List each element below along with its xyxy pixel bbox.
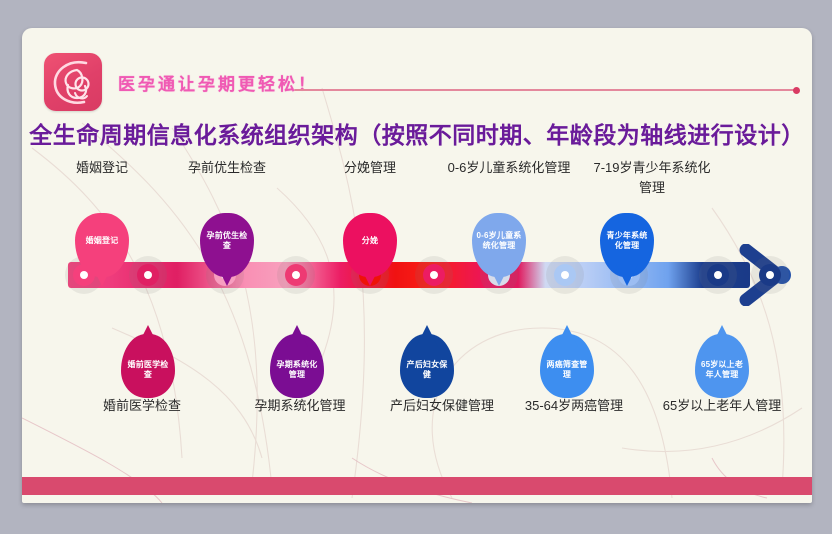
timeline-pin-label: 青少年系统化管理 xyxy=(600,231,654,251)
timeline-pin-label: 产后妇女保健 xyxy=(400,360,454,380)
timeline-pin-label: 婚姻登记 xyxy=(82,236,123,246)
timeline-stage-label-bottom-1: 孕期系统化管理 xyxy=(230,396,370,416)
timeline-pin-label: 两癌筛查管理 xyxy=(540,360,594,380)
timeline-node-dot xyxy=(430,271,438,279)
timeline-stage-label-top-4: 7-19岁青少年系统化管理 xyxy=(591,158,713,197)
timeline-stage-label-top-2: 分娩管理 xyxy=(315,158,425,178)
timeline-pin-down-0[interactable]: 婚前医学检查 xyxy=(121,334,175,398)
timeline-diagram: 婚姻登记孕前优生检查分娩0-6岁儿童系统化管理青少年系统化管理婚前医学检查孕期系… xyxy=(22,28,812,448)
timeline-pin-label: 65岁以上老年人管理 xyxy=(695,360,749,380)
timeline-stage-label-bottom-3: 35-64岁两癌管理 xyxy=(499,396,649,416)
slide-card: 医孕通让孕期更轻松！ 全生命周期信息化系统组织架构（按照不同时期、年龄段为轴线进… xyxy=(22,28,812,503)
timeline-node-dot xyxy=(766,271,774,279)
timeline-node-dot xyxy=(561,271,569,279)
timeline-node-dot xyxy=(292,271,300,279)
timeline-stage-label-bottom-4: 65岁以上老年人管理 xyxy=(642,396,802,416)
timeline-stage-label-top-1: 孕前优生检查 xyxy=(162,158,292,178)
timeline-pin-down-3[interactable]: 两癌筛查管理 xyxy=(540,334,594,398)
timeline-pin-label: 孕前优生检查 xyxy=(200,231,254,251)
timeline-pin-down-2[interactable]: 产后妇女保健 xyxy=(400,334,454,398)
timeline-pin-label: 分娩 xyxy=(358,236,382,246)
timeline-pin-down-4[interactable]: 65岁以上老年人管理 xyxy=(695,334,749,398)
timeline-pin-label: 孕期系统化管理 xyxy=(270,360,324,380)
timeline-pin-label: 婚前医学检查 xyxy=(121,360,175,380)
timeline-pin-label: 0-6岁儿童系统化管理 xyxy=(472,231,526,251)
timeline-node-dot xyxy=(714,271,722,279)
timeline-pin-down-1[interactable]: 孕期系统化管理 xyxy=(270,334,324,398)
footer-bar xyxy=(22,477,812,495)
timeline-stage-label-top-3: 0-6岁儿童系统化管理 xyxy=(434,158,584,178)
timeline-stage-label-bottom-2: 产后妇女保健管理 xyxy=(367,396,517,416)
timeline-node-dot xyxy=(144,271,152,279)
timeline-stage-label-bottom-0: 婚前医学检查 xyxy=(77,396,207,416)
timeline-stage-label-top-0: 婚姻登记 xyxy=(47,158,157,178)
